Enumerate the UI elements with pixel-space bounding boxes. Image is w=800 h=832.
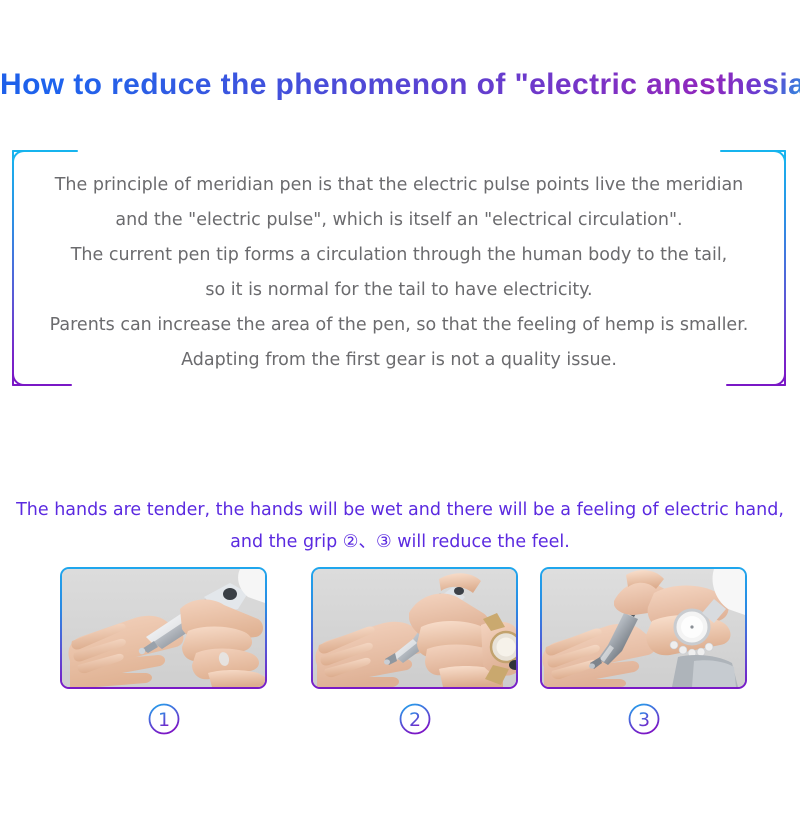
box-corner-top-left [12, 150, 24, 162]
grip-note-line-2: and the grip ②、③ will reduce the feel. [0, 526, 800, 558]
principle-box: The principle of meridian pen is that th… [12, 150, 786, 386]
page-title: How to reduce the phenomenon of "electri… [0, 62, 800, 108]
photo-1-alt: Hand holding the meridian pen sideways a… [62, 569, 63, 570]
photo-3-alt: Hand pinching the meridian pen verticall… [542, 569, 543, 570]
box-corner-top-right [774, 150, 786, 162]
svg-text:2: 2 [408, 709, 420, 731]
photo-2-alt: Hand gripping the meridian pen with encl… [313, 569, 314, 570]
photo-2: Hand gripping the meridian pen with encl… [313, 569, 516, 687]
svg-text:1: 1 [157, 709, 169, 731]
principle-line-3: The current pen tip forms a circulation … [28, 238, 770, 273]
step-figure-3: Hand pinching the meridian pen verticall… [540, 567, 747, 736]
photo-frame-3: Hand pinching the meridian pen verticall… [540, 567, 747, 689]
photo-3: Hand pinching the meridian pen verticall… [542, 569, 745, 687]
principle-line-4: so it is normal for the tail to have ele… [28, 273, 770, 308]
box-corner-bottom-left [12, 374, 24, 386]
principle-line-6: Adapting from the first gear is not a qu… [28, 343, 770, 378]
principle-line-1: The principle of meridian pen is that th… [28, 168, 770, 203]
principle-text: The principle of meridian pen is that th… [28, 168, 770, 378]
step-badge-3: ③ 3 [627, 702, 661, 736]
photo-1: Hand holding the meridian pen sideways a… [62, 569, 265, 687]
principle-line-5: Parents can increase the area of the pen… [28, 308, 770, 343]
box-corner-bottom-right [774, 374, 786, 386]
step-figures: Hand holding the meridian pen sideways a… [0, 567, 800, 757]
grip-note: The hands are tender, the hands will be … [0, 494, 800, 558]
step-badge-2: ② 2 [398, 702, 432, 736]
box-border-left [12, 150, 14, 386]
svg-text:3: 3 [637, 709, 649, 731]
step-figure-1: Hand holding the meridian pen sideways a… [60, 567, 267, 736]
principle-line-2: and the "electric pulse", which is itsel… [28, 203, 770, 238]
grip-note-line-1: The hands are tender, the hands will be … [0, 494, 800, 526]
box-border-right [784, 150, 786, 386]
step-figure-2: Hand gripping the meridian pen with encl… [311, 567, 518, 736]
photo-frame-2: Hand gripping the meridian pen with encl… [311, 567, 518, 689]
photo-frame-1: Hand holding the meridian pen sideways a… [60, 567, 267, 689]
step-badge-1: ① 1 [147, 702, 181, 736]
